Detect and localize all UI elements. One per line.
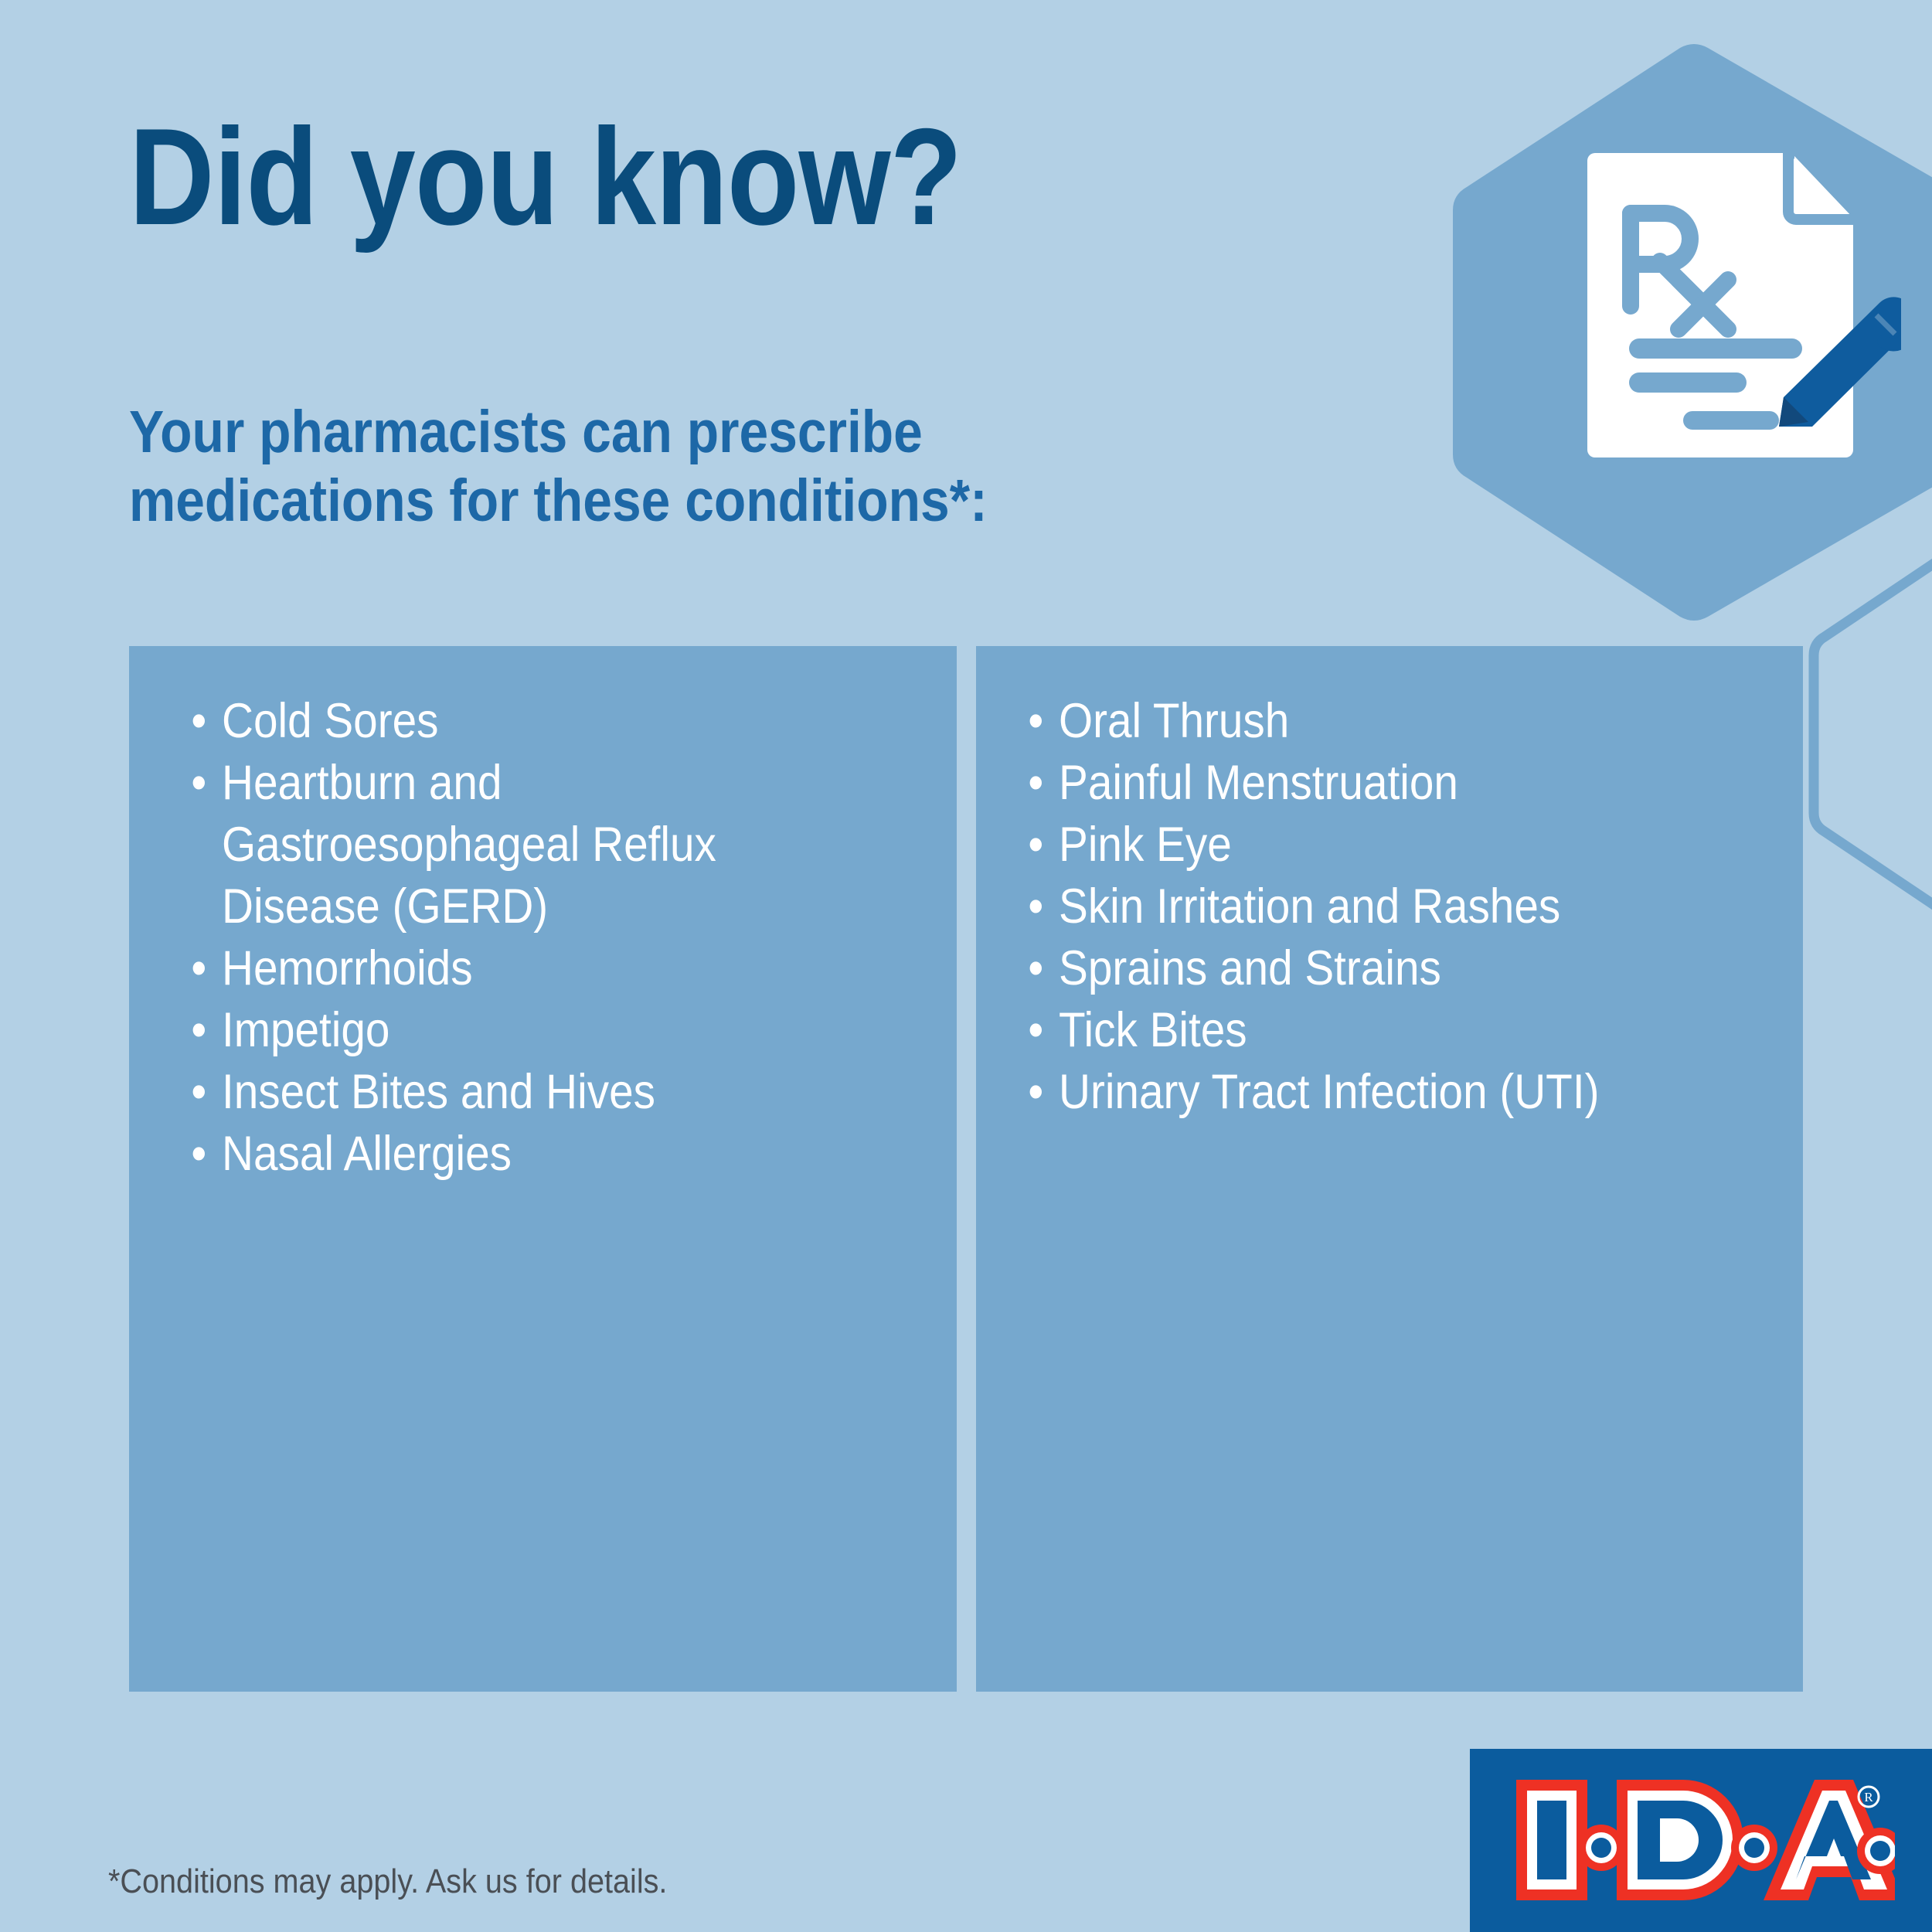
footnote-text: *Conditions may apply. Ask us for detail… — [108, 1862, 667, 1901]
list-item: • Insect Bites and Hives — [187, 1061, 855, 1123]
registered-trademark-icon: R — [1859, 1787, 1879, 1807]
conditions-list-right: • Oral Thrush • Painful Menstruation • P… — [1024, 690, 1781, 1123]
svg-text:R: R — [1864, 1790, 1873, 1804]
list-item: • Urinary Tract Infection (UTI) — [1024, 1061, 1706, 1123]
list-item: • Sprains and Strains — [1024, 937, 1706, 999]
document-line — [1629, 338, 1802, 359]
bullet-icon: • — [191, 937, 205, 999]
list-item-label: Cold Sores — [222, 694, 438, 748]
list-item: • Tick Bites — [1024, 999, 1706, 1061]
conditions-list-left: • Cold Sores • Heartburn and Gastroesoph… — [187, 690, 929, 1185]
bullet-icon: • — [191, 1123, 205, 1185]
bullet-icon: • — [191, 752, 205, 814]
list-item: • Impetigo — [187, 999, 855, 1061]
list-item: • Skin Irritation and Rashes — [1024, 876, 1706, 937]
list-item: • Hemorrhoids — [187, 937, 855, 999]
bullet-icon: • — [1028, 814, 1042, 876]
list-item: • Nasal Allergies — [187, 1123, 855, 1185]
bullet-icon: • — [191, 1061, 205, 1123]
document-line — [1629, 372, 1747, 393]
page-subtitle: Your pharmacists can prescribe medicatio… — [129, 398, 988, 535]
list-item-label: Impetigo — [222, 1003, 389, 1057]
prescription-document-icon — [1577, 139, 1901, 464]
bullet-icon: • — [191, 690, 205, 752]
list-item: • Heartburn and Gastroesophageal Reflux … — [187, 752, 855, 937]
bullet-icon: • — [1028, 937, 1042, 999]
list-item-label: Skin Irritation and Rashes — [1059, 879, 1560, 934]
conditions-panel-right: • Oral Thrush • Painful Menstruation • P… — [976, 646, 1803, 1692]
hexagon-outline-decoration — [1804, 541, 1932, 927]
list-item-label: Pink Eye — [1059, 818, 1232, 872]
list-item-label: Nasal Allergies — [222, 1127, 512, 1181]
list-item-label: Painful Menstruation — [1059, 756, 1458, 810]
list-item: • Oral Thrush — [1024, 690, 1706, 752]
list-item-label: Insect Bites and Hives — [222, 1065, 655, 1119]
list-item: • Cold Sores — [187, 690, 855, 752]
ida-logo: R — [1470, 1749, 1932, 1932]
conditions-panel-left: • Cold Sores • Heartburn and Gastroesoph… — [129, 646, 957, 1692]
bullet-icon: • — [1028, 1061, 1042, 1123]
bullet-icon: • — [1028, 690, 1042, 752]
list-item-label: Sprains and Strains — [1059, 941, 1441, 995]
list-item: • Pink Eye — [1024, 814, 1706, 876]
list-item-label: Urinary Tract Infection (UTI) — [1059, 1065, 1599, 1119]
list-item: • Painful Menstruation — [1024, 752, 1706, 814]
bullet-icon: • — [1028, 752, 1042, 814]
bullet-icon: • — [1028, 999, 1042, 1061]
bullet-icon: • — [1028, 876, 1042, 937]
list-item-label: Hemorrhoids — [222, 941, 473, 995]
list-item-label: Oral Thrush — [1059, 694, 1289, 748]
bullet-icon: • — [191, 999, 205, 1061]
page-title: Did you know? — [129, 108, 961, 246]
ida-logo-mark: R — [1509, 1770, 1895, 1910]
logo-letters — [1516, 1780, 1895, 1900]
list-item-label: Heartburn and Gastroesophageal Reflux Di… — [222, 756, 716, 934]
poster-canvas: Did you know? Your pharmacists can presc… — [0, 0, 1932, 1932]
list-item-label: Tick Bites — [1059, 1003, 1247, 1057]
signature-line — [1683, 411, 1779, 430]
